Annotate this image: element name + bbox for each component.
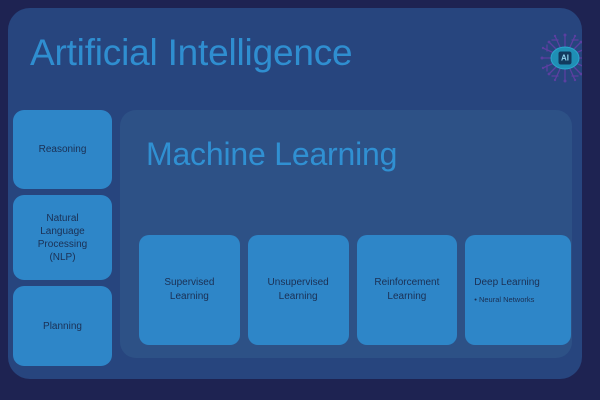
- artificial-intelligence-card: Artificial Intelligence: [8, 8, 582, 379]
- branch-item-nlp[interactable]: Natural Language Processing (NLP): [13, 195, 112, 280]
- branch-item-planning[interactable]: Planning: [13, 286, 112, 366]
- subtype-sub-items: • Neural Networks: [474, 294, 534, 305]
- subtype-label: Unsupervised Learning: [268, 276, 329, 304]
- subtype-supervised-learning[interactable]: Supervised Learning: [139, 235, 240, 345]
- ai-chip-icon: AI: [538, 31, 582, 85]
- chip-icon-label: AI: [561, 54, 569, 63]
- subtype-unsupervised-learning[interactable]: Unsupervised Learning: [248, 235, 349, 345]
- branch-label: Natural Language Processing (NLP): [38, 212, 87, 264]
- subtype-label: Deep Learning: [474, 276, 540, 290]
- branch-label: Reasoning: [39, 143, 87, 156]
- branch-label: Planning: [43, 320, 82, 333]
- subtype-reinforcement-learning[interactable]: Reinforcement Learning: [357, 235, 458, 345]
- branch-item-reasoning[interactable]: Reasoning: [13, 110, 112, 189]
- diagram-canvas: Artificial Intelligence: [0, 0, 600, 400]
- subtype-label: Supervised Learning: [164, 276, 214, 304]
- machine-learning-subtype-list: Supervised Learning Unsupervised Learnin…: [139, 235, 571, 345]
- machine-learning-title: Machine Learning: [146, 134, 397, 174]
- list-item: • Neural Networks: [474, 295, 534, 304]
- machine-learning-panel: Machine Learning Supervised Learning Uns…: [120, 110, 572, 358]
- subtype-label: Reinforcement Learning: [374, 276, 439, 304]
- page-title: Artificial Intelligence: [30, 30, 352, 76]
- ai-branch-list: Reasoning Natural Language Processing (N…: [13, 110, 112, 372]
- subtype-deep-learning[interactable]: Deep Learning • Neural Networks: [465, 235, 571, 345]
